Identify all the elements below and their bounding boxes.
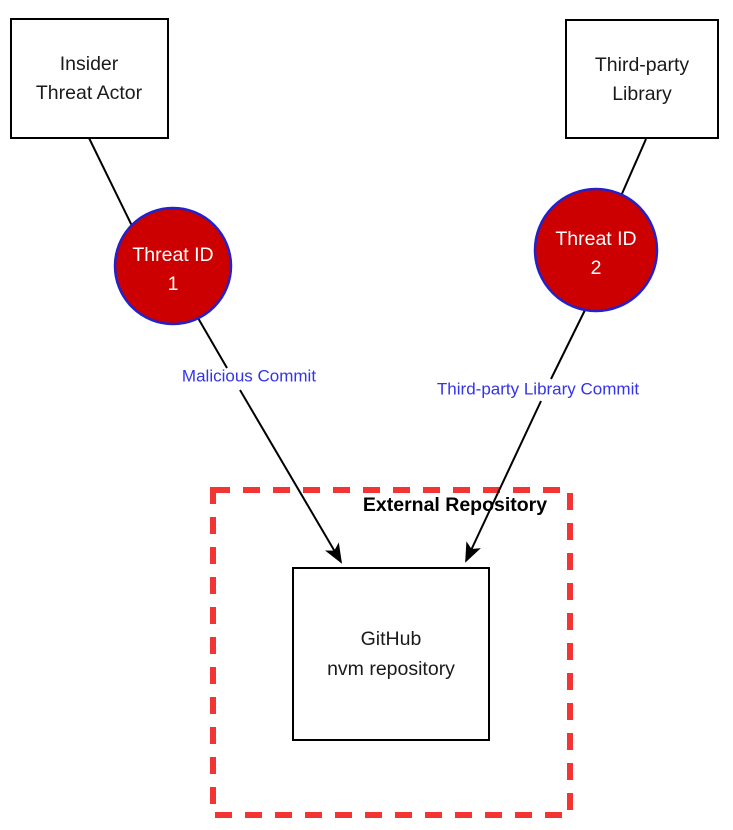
edge-line-library-to-threat2 (621, 139, 646, 196)
node-github-nvm-repository-rect[interactable] (293, 568, 489, 740)
node-threat-id-1-label-line2: 1 (168, 273, 179, 295)
edge-label-third-party-library-commit: Third-party Library Commit (437, 379, 639, 398)
node-insider-threat-actor-label-line1: Insider (60, 53, 119, 75)
node-github-nvm-repository-label-line1: GitHub (361, 628, 422, 650)
node-insider-threat-actor-rect[interactable] (11, 19, 168, 138)
edge-label-malicious-commit: Malicious Commit (182, 366, 316, 385)
edge-threat1-to-repo: Malicious Commit (182, 318, 341, 562)
node-threat-id-2[interactable]: Threat ID 2 (535, 189, 657, 311)
node-threat-id-1-label-line1: Threat ID (132, 244, 213, 266)
edge-line-threat2-lower (466, 401, 541, 561)
edge-insider-to-threat1 (89, 138, 134, 230)
node-threat-id-2-label-line1: Threat ID (555, 228, 636, 250)
edge-line-insider-to-threat1 (89, 138, 134, 230)
edge-line-threat1-upper (198, 318, 227, 368)
node-github-nvm-repository[interactable]: GitHub nvm repository (293, 568, 489, 740)
boundary-label: External Repository (363, 494, 547, 516)
edge-line-threat2-upper (551, 308, 586, 379)
diagram-canvas: External Repository Malicious Commit Thi… (0, 0, 733, 830)
threat-model-diagram: External Repository Malicious Commit Thi… (0, 0, 733, 830)
node-third-party-library-rect[interactable] (566, 20, 718, 138)
edge-library-to-threat2 (621, 139, 646, 196)
edge-threat2-to-repo: Third-party Library Commit (437, 308, 639, 561)
node-threat-id-2-label-line2: 2 (591, 257, 602, 279)
node-third-party-library-label-line2: Library (612, 83, 672, 105)
node-third-party-library-label-line1: Third-party (595, 54, 690, 76)
node-github-nvm-repository-label-line2: nvm repository (327, 658, 455, 680)
node-insider-threat-actor[interactable]: Insider Threat Actor (11, 19, 168, 138)
node-third-party-library[interactable]: Third-party Library (566, 20, 718, 138)
edge-line-threat1-lower (240, 390, 341, 562)
node-insider-threat-actor-label-line2: Threat Actor (36, 82, 143, 104)
node-threat-id-1[interactable]: Threat ID 1 (115, 208, 231, 324)
